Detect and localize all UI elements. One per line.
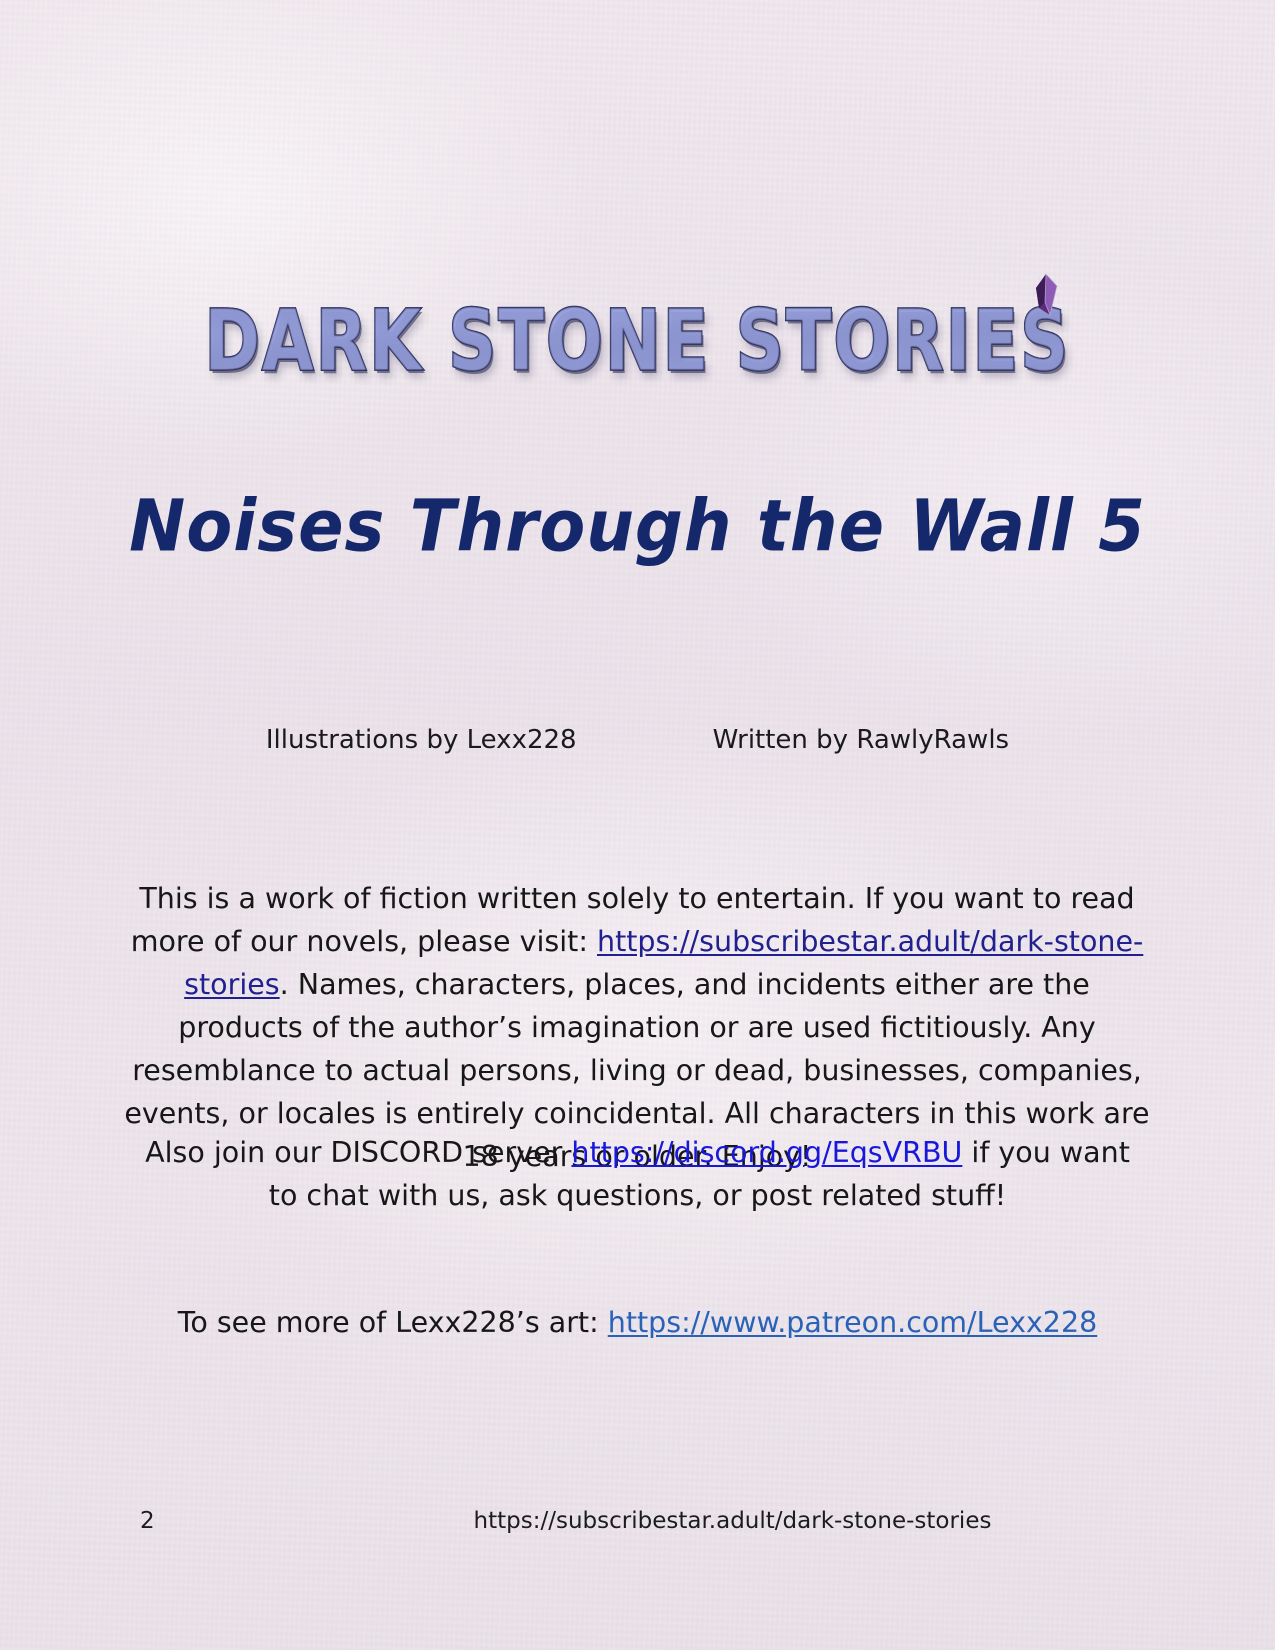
credits-row: Illustrations by Lexx228 Written by Rawl… [0, 725, 1275, 755]
writer-credit: Written by RawlyRawls [713, 725, 1010, 755]
discord-link[interactable]: https://discord.gg/EqsVRBU [571, 1136, 962, 1169]
discord-text-before-link: Also join our DISCORD server [145, 1136, 571, 1169]
page-content: DARK STONE STORIES Noises Through the Wa… [0, 0, 1275, 1650]
footer-url: https://subscribestar.adult/dark-stone-s… [0, 1508, 1275, 1534]
illustrator-credit: Illustrations by Lexx228 [266, 725, 577, 755]
patreon-text-before-link: To see more of Lexx228’s art: [178, 1306, 608, 1339]
discord-paragraph: Also join our DISCORD server https://dis… [130, 1131, 1145, 1217]
patreon-link[interactable]: https://www.patreon.com/Lexx228 [608, 1306, 1097, 1339]
patreon-paragraph: To see more of Lexx228’s art: https://ww… [130, 1301, 1145, 1344]
page-title: Noises Through the Wall 5 [0, 485, 1275, 568]
series-logo: DARK STONE STORIES [0, 300, 1275, 410]
crystal-gem-icon [1026, 272, 1060, 318]
series-logo-text: DARK STONE STORIES [205, 300, 1071, 384]
